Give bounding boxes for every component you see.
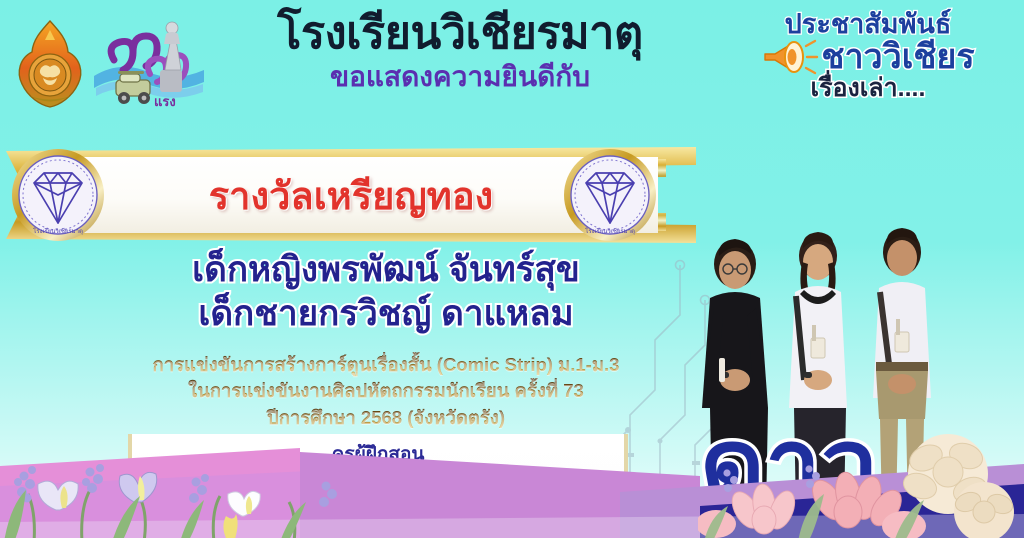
pr-line-story: เรื่องเล่า.... [720,75,1016,101]
student-names: เด็กหญิงพรพัฒน์ จันทร์สุข เด็กชายกรวิชญ์… [96,248,676,336]
school-name: โรงเรียนวิเชียรมาตุ [200,8,720,58]
congratulation-text: ขอแสดงความยินดีกับ [200,60,720,94]
competition-line: ในการแข่งขันงานศิลปหัตถกรรมนักเรียน ครั้… [96,378,676,404]
poster-canvas: แรง โรงเรียนวิเชียรมาตุ ขอแสดงความยินดีก… [0,0,1024,538]
student-name: เด็กชายกรวิชญ์ ดาแหลม [96,292,676,336]
school-seal-icon: โรงเรียนวิเชียรมาตุ [560,145,660,245]
competition-line: การแข่งขันการสร้างการ์ตูนเรื่องสั้น (Com… [96,352,676,378]
svg-text:แรง: แรง [154,94,176,109]
svg-text:โรงเรียนวิเชียรมาตุ: โรงเรียนวิเชียรมาตุ [33,227,83,235]
pr-badge: ประชาสัมพันธ์ ชาววิเชียร เรื่องเล่า.... [720,10,1016,102]
award-banner: รางวัลเหรียญทอง โรงเรียนวิเชียรมาตุ [0,141,702,249]
flower-decoration-right [698,412,1024,538]
flower-decoration-left [0,446,374,538]
megaphone-icon [761,36,819,78]
event-73-logo-icon: แรง [92,14,207,114]
school-seal-icon: โรงเรียนวิเชียรมาตุ [8,145,108,245]
svg-text:โรงเรียนวิเชียรมาตุ: โรงเรียนวิเชียรมาตุ [585,227,635,235]
pr-line-public-relations: ประชาสัมพันธ์ [720,10,1016,38]
student-name: เด็กหญิงพรพัฒน์ จันทร์สุข [96,248,676,292]
pr-line-chao-wichian: ชาววิเชียร [821,40,974,76]
obec-emblem-icon [10,18,90,110]
headline-block: โรงเรียนวิเชียรมาตุ ขอแสดงความยินดีกับ [200,8,720,94]
